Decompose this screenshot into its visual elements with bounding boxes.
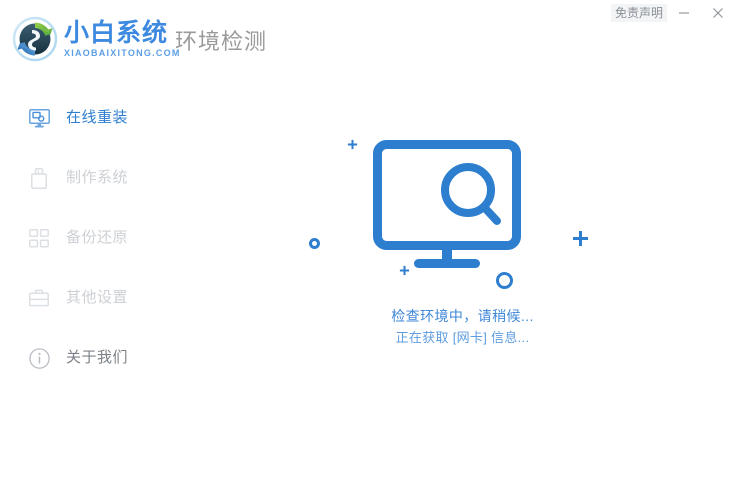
usb-drive-icon: [28, 167, 50, 189]
sidebar-item-label: 制作系统: [66, 168, 128, 188]
sidebar-item-label: 在线重装: [66, 108, 128, 128]
brand-domain: XIAOBAIXITONG.COM: [64, 48, 181, 59]
monitor-magnifier-illustration: [373, 140, 521, 273]
plus-icon: [572, 230, 589, 247]
plus-right-decoration: [572, 230, 589, 252]
sidebar-item-make-system[interactable]: 制作系统: [0, 160, 190, 196]
environment-check-panel: 检查环境中，请稍候... 正在获取 [网卡] 信息...: [190, 100, 735, 400]
brand-name: 小白系统: [64, 20, 181, 47]
ring-bottom-decoration: [496, 272, 513, 289]
sidebar-item-other-settings[interactable]: 其他设置: [0, 280, 190, 316]
sidebar-item-label: 关于我们: [66, 348, 128, 368]
xiaobai-recycle-logo-icon: [12, 16, 58, 62]
grid-squares-icon: [28, 227, 50, 249]
minimize-icon: [677, 6, 691, 20]
disclaimer-link[interactable]: 免责声明: [611, 4, 667, 22]
close-icon: [711, 6, 725, 20]
sidebar-item-label: 备份还原: [66, 228, 128, 248]
sidebar-item-online-reinstall[interactable]: 在线重装: [0, 100, 190, 136]
page-title: 环境检测: [175, 29, 267, 55]
minimize-button[interactable]: [667, 0, 701, 26]
sidebar-item-label: 其他设置: [66, 288, 128, 308]
status-text-block: 检查环境中，请稍候... 正在获取 [网卡] 信息...: [190, 305, 735, 349]
sidebar-item-about-us[interactable]: 关于我们: [0, 340, 190, 376]
sidebar: 在线重装 制作系统 备份还原: [0, 100, 190, 400]
status-primary-text: 检查环境中，请稍候...: [190, 305, 735, 327]
plus-icon: [399, 265, 410, 276]
sidebar-item-backup-restore[interactable]: 备份还原: [0, 220, 190, 256]
monitor-gear-icon: [28, 107, 50, 129]
plus-bottom-left-decoration: [399, 263, 410, 281]
ring-left-decoration: [309, 238, 320, 249]
toolbox-icon: [28, 287, 50, 309]
plus-icon: [347, 139, 358, 150]
close-button[interactable]: [701, 0, 735, 26]
plus-top-left-decoration: [347, 137, 358, 155]
status-secondary-text: 正在获取 [网卡] 信息...: [190, 327, 735, 349]
window-controls: 免责声明: [611, 0, 735, 26]
brand-text: 小白系统 XIAOBAIXITONG.COM: [64, 16, 181, 62]
monitor-magnifier-icon: [373, 140, 521, 268]
brand-header: 小白系统 XIAOBAIXITONG.COM: [12, 13, 181, 65]
info-circle-icon: [28, 347, 50, 369]
